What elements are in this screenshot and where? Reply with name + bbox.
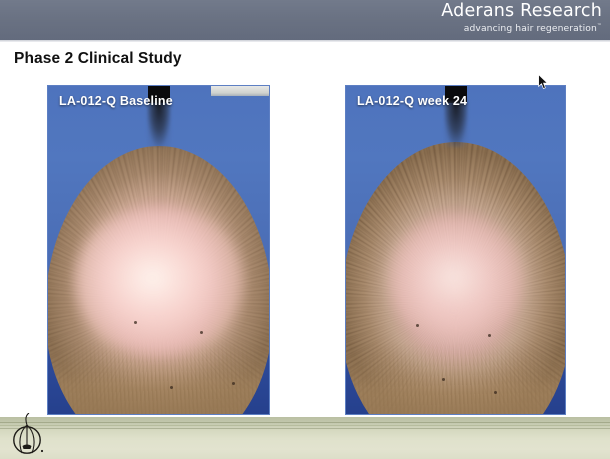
follicle-dot (494, 391, 497, 394)
light-patch (211, 86, 269, 96)
follicle-dot (416, 324, 419, 327)
header-underline (0, 40, 610, 42)
photo-baseline: LA-012-Q Baseline (47, 85, 270, 415)
follicle-dot (442, 378, 445, 381)
trademark-symbol: ™ (597, 23, 602, 29)
follicle-dot (170, 386, 173, 389)
follicle-dot (488, 334, 491, 337)
follicle-dot (134, 321, 137, 324)
footer-divider (0, 422, 610, 423)
brand-tagline-text: advancing hair regeneration (464, 23, 597, 34)
brand-name: Aderans Research (441, 3, 602, 21)
follicle-dot (200, 331, 203, 334)
bald-crown-highlight (75, 206, 243, 356)
presentation-slide: Aderans Research advancing hair regenera… (0, 0, 610, 459)
follicle-dot (232, 382, 235, 385)
footer-divider (0, 425, 610, 426)
mouse-cursor-icon (538, 74, 549, 90)
photo-caption-week-24: LA-012-Q week 24 (357, 94, 467, 108)
bald-crown-highlight (387, 214, 525, 340)
brand-tagline: advancing hair regeneration™ (441, 24, 602, 33)
photo-week-24: LA-012-Q week 24 (345, 85, 566, 415)
page-title: Phase 2 Clinical Study (14, 50, 182, 68)
slide-footer-band (0, 417, 610, 459)
slide-header-band: Aderans Research advancing hair regenera… (0, 0, 610, 40)
photo-caption-baseline: LA-012-Q Baseline (59, 94, 173, 108)
aderans-follicle-logo-icon (8, 413, 50, 459)
hair-fringe (345, 342, 566, 415)
brand-block: Aderans Research advancing hair regenera… (441, 3, 602, 33)
footer-divider (0, 428, 610, 429)
